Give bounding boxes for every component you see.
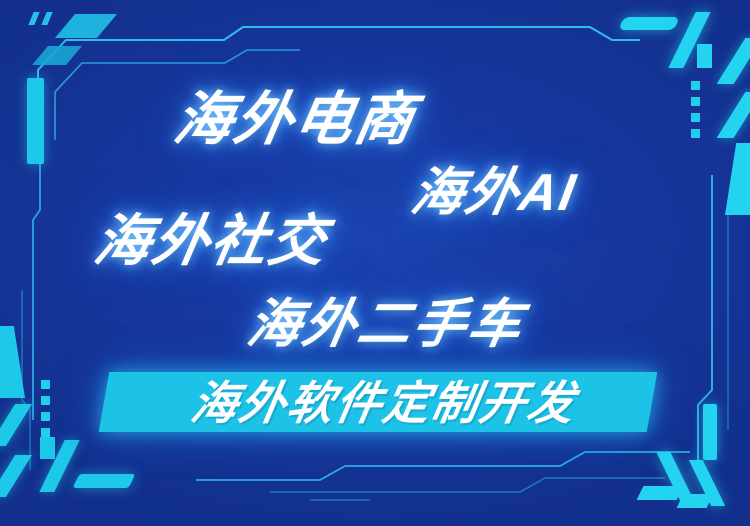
- corner-mark-tl-slash-2: [32, 46, 82, 65]
- chevron-arrow-right-2: [717, 92, 750, 138]
- dot-stack-bl-4: [41, 428, 50, 437]
- corner-bar-br-vertical-1: [703, 404, 717, 460]
- chevron-arrow-left-2: [0, 455, 32, 497]
- dot-stack-bl-3: [41, 412, 50, 421]
- dot-stack-tr-3: [691, 113, 700, 122]
- headline-overseas-ai: 海外AI: [406, 150, 583, 225]
- chevron-arrow-right-1: [717, 38, 750, 84]
- corner-bar-tr-horizontal: [618, 17, 679, 30]
- corner-bar-br-foot-2: [677, 494, 714, 508]
- dot-stack-bl-2: [41, 396, 50, 405]
- chevron-block-right-large: [725, 143, 750, 215]
- cta-banner-label: 海外软件定制开发: [130, 378, 639, 428]
- corner-bar-tl-vertical: [27, 78, 44, 164]
- dot-stack-tr-2: [691, 97, 700, 106]
- chevron-block-left-large: [0, 326, 25, 398]
- headline-overseas-used-car: 海外二手车: [242, 282, 530, 358]
- dot-stack-tr-1: [691, 81, 700, 90]
- headline-overseas-social: 海外社交: [89, 196, 335, 277]
- corner-bar-br-foot-1: [637, 486, 684, 500]
- corner-mark-tl-tick-2: [41, 12, 52, 25]
- dot-stack-tr-4: [691, 129, 700, 138]
- corner-bar-bl-horizontal: [73, 474, 136, 488]
- headline-overseas-ecommerce: 海外电商: [169, 72, 424, 156]
- dot-stack-bl-1: [41, 380, 50, 389]
- corner-mark-tl-slash-1: [55, 14, 117, 38]
- banner-canvas: 海外电商 海外AI 海外社交 海外二手车 海外软件定制开发: [0, 0, 750, 526]
- corner-bar-bl-diagonal: [40, 437, 55, 459]
- corner-mark-tl-tick-1: [28, 12, 39, 25]
- chevron-arrow-left-1: [0, 404, 32, 446]
- corner-bar-tr-diagonal-foot: [697, 44, 712, 68]
